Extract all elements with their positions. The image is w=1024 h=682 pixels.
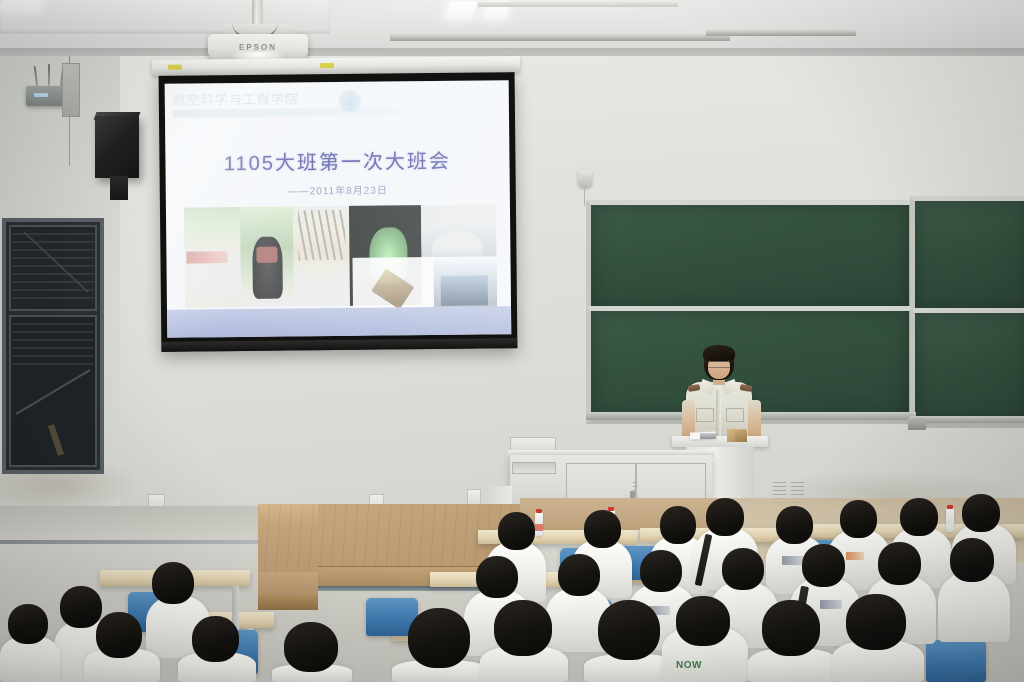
student-head bbox=[558, 554, 600, 596]
blackboard[interactable] bbox=[586, 196, 1024, 422]
student-head bbox=[8, 604, 48, 644]
student-shirt bbox=[938, 572, 1010, 642]
shirt-placket bbox=[716, 390, 721, 442]
student-head bbox=[494, 600, 552, 656]
student-head bbox=[192, 616, 239, 662]
student-head bbox=[660, 506, 696, 544]
student-head bbox=[584, 510, 621, 548]
student-head bbox=[762, 600, 820, 656]
presenter-hair bbox=[703, 345, 735, 361]
student-head bbox=[840, 500, 877, 538]
bottle-cap-icon bbox=[536, 509, 542, 513]
bottle-label bbox=[535, 524, 543, 531]
glasses-icon bbox=[708, 361, 730, 368]
loudspeaker-bracket bbox=[110, 176, 128, 200]
hanging-panel bbox=[62, 63, 80, 117]
bottle-cap-icon bbox=[947, 505, 953, 509]
shirt-logo bbox=[820, 600, 842, 609]
lecture-hall-photo: EPSON 航空科学与工 bbox=[0, 0, 1024, 682]
ceiling-rail bbox=[478, 2, 678, 7]
antenna-icon bbox=[48, 64, 50, 86]
seat[interactable] bbox=[926, 640, 986, 682]
warning-label-icon bbox=[320, 63, 334, 68]
student-head bbox=[598, 600, 660, 660]
slide-header-underline bbox=[173, 107, 423, 118]
student-head bbox=[962, 494, 1000, 532]
chalk-tray bbox=[910, 416, 1024, 423]
student-head bbox=[722, 548, 764, 590]
water-bottle[interactable] bbox=[946, 508, 954, 532]
student-head bbox=[640, 550, 682, 592]
student-head bbox=[152, 562, 194, 604]
smoke-detector bbox=[578, 170, 592, 188]
shirt-text: NOW bbox=[676, 660, 702, 671]
wall-loudspeaker bbox=[95, 116, 139, 178]
smoke-detector-wire bbox=[584, 186, 585, 206]
collage-tile bbox=[293, 206, 350, 307]
student-head bbox=[284, 622, 338, 672]
shirt-pocket bbox=[696, 408, 714, 422]
student-head bbox=[498, 512, 535, 550]
ceiling-rail bbox=[706, 30, 856, 36]
slide-footer-band bbox=[167, 306, 511, 338]
ceiling-light-icon bbox=[0, 0, 43, 10]
student-head bbox=[900, 498, 938, 536]
cabinet-slot bbox=[512, 462, 556, 474]
blackboard-bracket bbox=[908, 418, 926, 430]
left-window bbox=[2, 218, 106, 476]
student-head bbox=[878, 542, 921, 585]
slide-date: ——2011年8月23日 bbox=[166, 180, 512, 199]
floor-trim bbox=[0, 540, 262, 544]
student-head bbox=[846, 594, 906, 650]
collage-tile bbox=[184, 207, 241, 308]
hanging-wire bbox=[69, 114, 70, 166]
slide-surface: 航空科学与工程学院 1105大班第一次大班会 ——2011年8月23日 bbox=[165, 80, 512, 338]
student-head bbox=[676, 596, 730, 646]
stage-skirt bbox=[520, 498, 730, 530]
warning-label-icon bbox=[168, 65, 182, 70]
collage-tile bbox=[240, 206, 294, 307]
projection-screen[interactable]: 航空科学与工程学院 1105大班第一次大班会 ——2011年8月23日 bbox=[159, 72, 518, 352]
shirt-pocket bbox=[726, 408, 744, 422]
floor-shadow bbox=[0, 506, 262, 542]
student-head bbox=[802, 544, 845, 587]
student-head bbox=[950, 538, 994, 582]
cardboard-box[interactable] bbox=[735, 430, 747, 442]
remote-control[interactable] bbox=[700, 433, 716, 439]
shirt-logo bbox=[782, 556, 804, 565]
blackboard-panel[interactable] bbox=[910, 196, 1024, 316]
student-head bbox=[476, 556, 518, 598]
blackboard-panel[interactable] bbox=[910, 308, 1024, 428]
lectern-top bbox=[672, 436, 768, 447]
stage-step-face bbox=[258, 596, 318, 610]
student-head bbox=[706, 498, 744, 536]
student-head bbox=[60, 586, 102, 628]
student-head bbox=[408, 608, 470, 668]
slide-title: 1105大班第一次大班会 bbox=[165, 144, 511, 177]
blackboard-panel[interactable] bbox=[586, 200, 914, 314]
shirt-logo bbox=[846, 552, 864, 560]
jammer-led-icon bbox=[34, 93, 48, 97]
student-head bbox=[96, 612, 142, 658]
student-head bbox=[776, 506, 813, 544]
ceiling-rail bbox=[390, 34, 730, 41]
projector-brand-label: EPSON bbox=[208, 43, 308, 52]
ceiling-light-icon bbox=[445, 2, 476, 18]
